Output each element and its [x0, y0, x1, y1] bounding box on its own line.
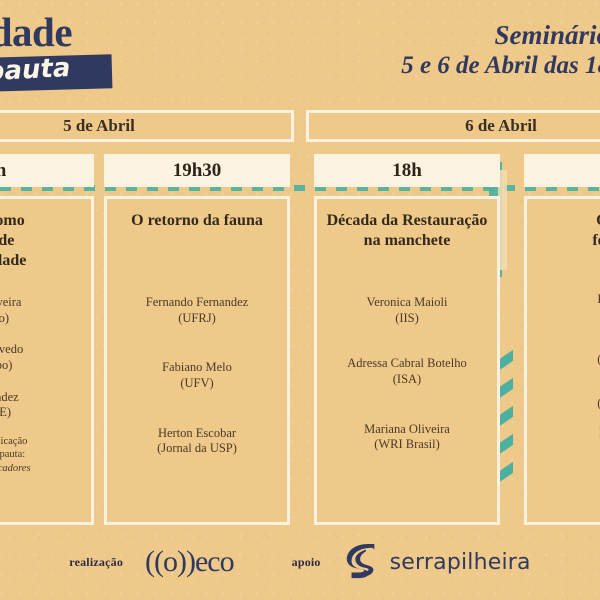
apoio-label: apoio [292, 555, 321, 570]
speaker: Oliveiraco) [0, 295, 21, 326]
session-card-4[interactable]: Comufora da Hugo C(RE Jéssic(Podcas Natá… [524, 196, 600, 525]
serrapilheira-mark-icon [343, 543, 381, 581]
time-label-4: 19 [524, 154, 600, 187]
speaker: nandezCE) [0, 390, 19, 421]
serrapilheira-logo[interactable]: serrapilheira [343, 543, 531, 581]
session-column-1[interactable]: h e comor dersidade Oliveiraco) Azevedoo… [0, 154, 94, 525]
speaker: Mariana Oliveira(WRI Brasil) [364, 422, 450, 453]
session-title-3: Década da Restauração na manchete [326, 211, 488, 273]
session-note-1: a publicação e em pauta: omunicadores [0, 435, 31, 476]
speaker: Azevedoobo) [0, 342, 23, 373]
time-label-1: h [0, 154, 94, 187]
brand-title: versidade [0, 12, 268, 53]
speaker: Adressa Cabral Botelho(ISA) [347, 356, 466, 387]
header: versidade em pauta Seminário 5 e 6 de Ab… [0, 0, 600, 106]
speaker: Veronica Maioli(IIS) [367, 295, 448, 326]
brand-tagline-wrap: em pauta [0, 57, 112, 94]
session-column-3[interactable]: 18h Década da Restauração na manchete Ve… [314, 154, 500, 525]
session-title-2: O retorno da fauna [131, 211, 263, 273]
time-label-3: 18h [314, 154, 500, 187]
session-card-3[interactable]: Década da Restauração na manchete Veroni… [314, 196, 500, 525]
speaker: Fernando Fernandez(UFRJ) [146, 295, 248, 326]
footer: realização ((o))eco apoio serrapilheira [0, 524, 600, 600]
speaker: Herton Escobar(Jornal da USP) [157, 426, 237, 457]
session-column-4[interactable]: 19 Comufora da Hugo C(RE Jéssic(Podcas N… [524, 154, 600, 525]
event-headline: Seminário 5 e 6 de Abril das 18 [401, 20, 600, 80]
realizacao-label: realização [69, 555, 123, 570]
session-card-2[interactable]: O retorno da fauna Fernando Fernandez(UF… [104, 196, 290, 525]
note-line: e em pauta: [0, 448, 31, 462]
serrapilheira-wordmark: serrapilheira [390, 550, 531, 575]
session-card-1[interactable]: e comor dersidade Oliveiraco) Azevedoobo… [0, 196, 94, 525]
note-line: a publicação [0, 435, 31, 449]
note-line: omunicadores [0, 462, 31, 476]
session-column-2[interactable]: 19h30 O retorno da fauna Fernando Fernan… [104, 154, 290, 525]
session-title-1: e comor dersidade [0, 211, 26, 273]
oeco-logo[interactable]: ((o))eco [145, 545, 234, 579]
day-header-5-abril: 5 de Abril [0, 110, 294, 142]
schedule-board: 5 de Abril 6 de Abril h e comor dersidad… [0, 110, 600, 524]
headline-line-1: Seminário [401, 20, 600, 50]
session-title-4: Comufora da [592, 211, 600, 273]
speaker: Fabiano Melo(UFV) [162, 360, 232, 391]
brand-logo: versidade em pauta [0, 12, 268, 94]
day-header-6-abril: 6 de Abril [306, 110, 600, 142]
time-label-2: 19h30 [104, 154, 290, 187]
headline-line-2: 5 e 6 de Abril das 18 [401, 52, 600, 80]
